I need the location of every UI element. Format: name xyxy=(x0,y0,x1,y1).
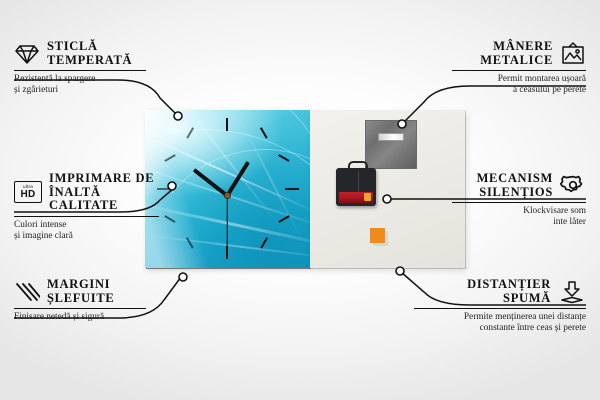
callout-tempered-glass: STICLĂ TEMPERATĂ Rezistentă la spargere … xyxy=(14,40,146,96)
ultra-hd-main-label: HD xyxy=(20,190,35,200)
callout-subtitle: Permite menținerea unei distanțe constan… xyxy=(414,312,586,334)
polished-edges-icon xyxy=(14,281,40,303)
callout-high-quality-print: ultra HD IMPRIMARE DE ÎNALTĂ CALITATE Cu… xyxy=(14,172,159,242)
infographic-canvas: STICLĂ TEMPERATĂ Rezistentă la spargere … xyxy=(0,0,600,400)
callout-title: IMPRIMARE DE ÎNALTĂ CALITATE xyxy=(49,172,159,213)
leader-dot-polished-edges xyxy=(179,273,187,281)
leader-dot-metal-handles xyxy=(398,120,406,128)
leader-dot-tempered-glass xyxy=(174,112,182,120)
picture-hanger-icon xyxy=(560,42,586,66)
callout-rule xyxy=(14,308,146,309)
callout-foam-spacer: DISTANȚIER SPUMĂ Permite menținerea unei… xyxy=(414,278,586,334)
callout-rule xyxy=(452,202,586,203)
callout-rule xyxy=(14,70,146,71)
callout-title: MARGINI ȘLEFUITE xyxy=(47,278,114,305)
callout-polished-edges: MARGINI ȘLEFUITE Finisare netedă și sigu… xyxy=(14,278,146,323)
callout-title: DISTANȚIER SPUMĂ xyxy=(467,278,551,305)
leader-dot-high-quality-print xyxy=(168,182,176,190)
ultra-hd-icon: ultra HD xyxy=(14,181,42,203)
gear-icon xyxy=(560,174,586,198)
callout-subtitle: Rezistentă la spargere și zgârieturi xyxy=(14,74,146,96)
callout-title: MÂNERE METALICE xyxy=(480,40,553,67)
callout-rule xyxy=(452,70,586,71)
callout-rule xyxy=(14,216,159,217)
callout-title: MECANISM SILENȚIOS xyxy=(477,172,553,199)
diamond-icon xyxy=(14,43,40,65)
callout-subtitle: Finisare netedă și sigură xyxy=(14,312,146,323)
callout-subtitle: Permit montarea ușoară a ceasului pe per… xyxy=(452,74,586,96)
callout-rule xyxy=(414,308,586,309)
callout-metal-handles: MÂNERE METALICE Permit montarea ușoară a… xyxy=(452,40,586,96)
press-down-icon xyxy=(558,280,586,304)
leader-dot-foam-spacer xyxy=(396,267,404,275)
leader-dot-silent-mechanism xyxy=(383,195,391,203)
callout-subtitle: Culori intense și imagine clară xyxy=(14,220,159,242)
callout-title: STICLĂ TEMPERATĂ xyxy=(47,40,132,67)
callout-subtitle: Klockvisare som inte låter xyxy=(452,206,586,228)
callout-silent-mechanism: MECANISM SILENȚIOS Klockvisare som inte … xyxy=(452,172,586,228)
